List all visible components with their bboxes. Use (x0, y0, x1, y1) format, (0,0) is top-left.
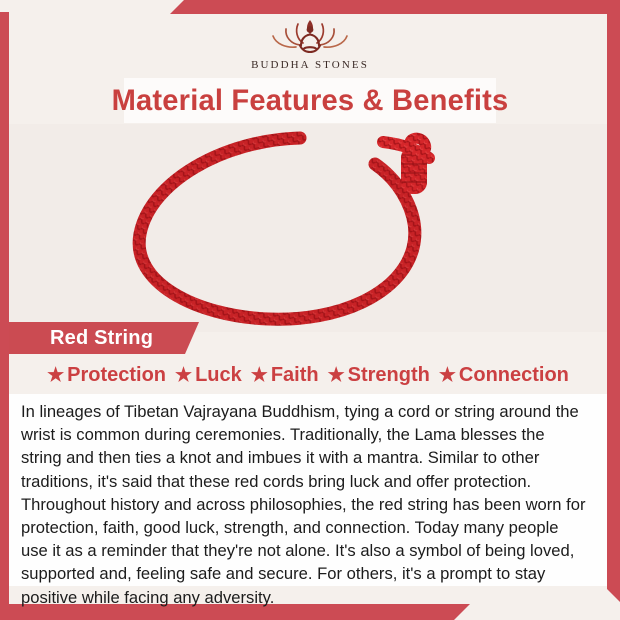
page-title: Material Features & Benefits (9, 79, 610, 122)
product-photo (9, 124, 607, 332)
frame-left-bar (0, 12, 9, 620)
benefit-label: Faith (271, 364, 319, 387)
benefits-row: ★ Protection ★ Luck ★ Faith ★ Strength ★… (9, 358, 607, 392)
benefit-label: Strength (348, 364, 430, 387)
infographic-page: BUDDHA STONES Material Features & Benefi… (0, 0, 620, 620)
red-string-bracelet-illustration (9, 124, 607, 332)
lotus-meditation-icon (258, 14, 362, 58)
benefit-item: ★ Faith (251, 364, 319, 387)
star-icon: ★ (175, 366, 192, 385)
brand-name: BUDDHA STONES (251, 59, 369, 71)
product-tag-label: Red String (50, 322, 153, 354)
star-icon: ★ (47, 366, 64, 385)
star-icon: ★ (328, 366, 345, 385)
benefit-label: Connection (459, 364, 569, 387)
description-panel: In lineages of Tibetan Vajrayana Buddhis… (9, 394, 607, 586)
benefit-item: ★ Protection (47, 364, 166, 387)
benefit-item: ★ Luck (175, 364, 242, 387)
description-text: In lineages of Tibetan Vajrayana Buddhis… (9, 394, 607, 609)
benefit-item: ★ Strength (328, 364, 430, 387)
frame-top-bar (170, 0, 620, 14)
benefit-label: Protection (67, 364, 166, 387)
benefit-label: Luck (195, 364, 242, 387)
star-icon: ★ (251, 366, 268, 385)
brand-logo: BUDDHA STONES (0, 14, 620, 80)
star-icon: ★ (439, 366, 456, 385)
benefit-item: ★ Connection (439, 364, 569, 387)
